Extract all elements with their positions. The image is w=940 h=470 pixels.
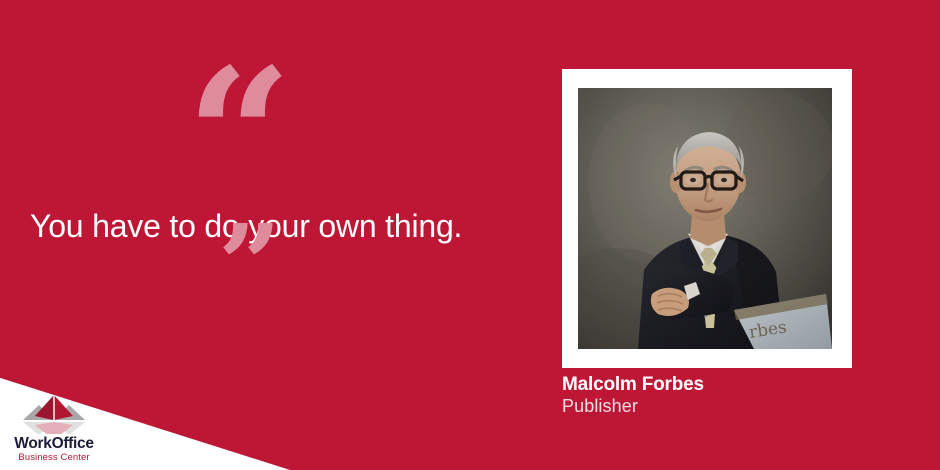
author-name: Malcolm Forbes	[562, 374, 704, 396]
closing-quotation-mark-icon: ”	[218, 210, 277, 320]
portrait-photo: rbes	[578, 88, 832, 349]
logo-tagline: Business Center	[8, 452, 100, 464]
author-role: Publisher	[562, 396, 704, 417]
quote-text: You have to do your own thing.	[30, 206, 530, 246]
attribution: Malcolm Forbes Publisher	[562, 374, 704, 418]
logo-wordmark: WorkOffice	[8, 436, 100, 452]
portrait-frame: rbes	[562, 69, 852, 368]
brand-logo: WorkOffice Business Center	[8, 394, 100, 465]
logo-diamond-icon	[21, 394, 87, 434]
quote-slide: “ You have to do your own thing. ”	[0, 0, 940, 470]
